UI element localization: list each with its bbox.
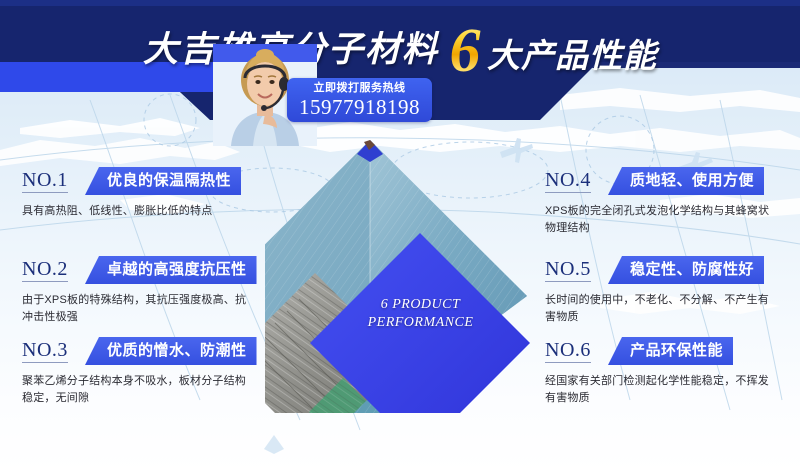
poster-title: 大吉雄高分子材料 6 大产品性能 [0, 6, 800, 68]
feature-3-title-bar: 优质的憎水、防潮性 [85, 337, 257, 365]
feature-4-number: NO.4 [545, 169, 591, 193]
feature-5-title-bar: 稳定性、防腐性好 [608, 256, 764, 284]
feature-3-desc: 聚苯乙烯分子结构本身不吸水，板材分子结构稳定，无间隙 [22, 373, 250, 407]
feature-1-head: NO.1 优良的保温隔热性 [22, 167, 272, 197]
feature-1-desc: 具有高热阻、低线性、膨胀比低的特点 [22, 203, 250, 220]
hotline-number: 15977918198 [287, 96, 432, 119]
feature-6-number: NO.6 [545, 339, 591, 363]
feature-5-title: 稳定性、防腐性好 [630, 256, 754, 284]
feature-6-title: 产品环保性能 [630, 337, 723, 365]
feature-3-title: 优质的憎水、防潮性 [107, 337, 247, 365]
feature-1-number: NO.1 [22, 169, 68, 193]
feature-item-1: NO.1 优良的保温隔热性 具有高热阻、低线性、膨胀比低的特点 [22, 167, 272, 220]
feature-1-title-bar: 优良的保温隔热性 [85, 167, 241, 195]
feature-item-6: NO.6 产品环保性能 经国家有关部门检测起化学性能稳定，不挥发有害物质 [545, 337, 795, 407]
feature-2-desc: 由于XPS板的特殊结构，其抗压强度极高、抗冲击性极强 [22, 292, 250, 326]
feature-5-desc: 长时间的使用中，不老化、不分解、不产生有害物质 [545, 292, 773, 326]
promo-poster: 大吉雄高分子材料 6 大产品性能 [0, 0, 800, 474]
feature-4-desc: XPS板的完全闭孔式发泡化学结构与其蜂窝状物理结构 [545, 203, 773, 237]
feature-item-4: NO.4 质地轻、使用方便 XPS板的完全闭孔式发泡化学结构与其蜂窝状物理结构 [545, 167, 795, 237]
feature-2-number: NO.2 [22, 258, 68, 282]
feature-item-3: NO.3 优质的憎水、防潮性 聚苯乙烯分子结构本身不吸水，板材分子结构稳定，无间… [22, 337, 272, 407]
feature-4-head: NO.4 质地轻、使用方便 [545, 167, 795, 197]
feature-5-head: NO.5 稳定性、防腐性好 [545, 256, 795, 286]
feature-2-title: 卓越的高强度抗压性 [107, 256, 247, 284]
feature-6-desc: 经国家有关部门检测起化学性能稳定，不挥发有害物质 [545, 373, 773, 407]
hotline-badge[interactable]: 立即拨打服务热线 15977918198 [287, 78, 432, 122]
feature-2-head: NO.2 卓越的高强度抗压性 [22, 256, 272, 286]
feature-6-head: NO.6 产品环保性能 [545, 337, 795, 367]
feature-3-head: NO.3 优质的憎水、防潮性 [22, 337, 272, 367]
feature-2-title-bar: 卓越的高强度抗压性 [85, 256, 257, 284]
feature-item-2: NO.2 卓越的高强度抗压性 由于XPS板的特殊结构，其抗压强度极高、抗冲击性极… [22, 256, 272, 326]
feature-1-title: 优良的保温隔热性 [107, 167, 231, 195]
feature-6-title-bar: 产品环保性能 [608, 337, 733, 365]
title-tail-text: 大产品性能 [487, 39, 657, 75]
xps-board-diamond-collage [265, 128, 535, 413]
feature-3-number: NO.3 [22, 339, 68, 363]
title-number-six: 6 [450, 17, 481, 85]
feature-5-number: NO.5 [545, 258, 591, 282]
feature-4-title-bar: 质地轻、使用方便 [608, 167, 764, 195]
feature-item-5: NO.5 稳定性、防腐性好 长时间的使用中，不老化、不分解、不产生有害物质 [545, 256, 795, 326]
hotline-label: 立即拨打服务热线 [287, 78, 432, 96]
feature-4-title: 质地轻、使用方便 [630, 167, 754, 195]
